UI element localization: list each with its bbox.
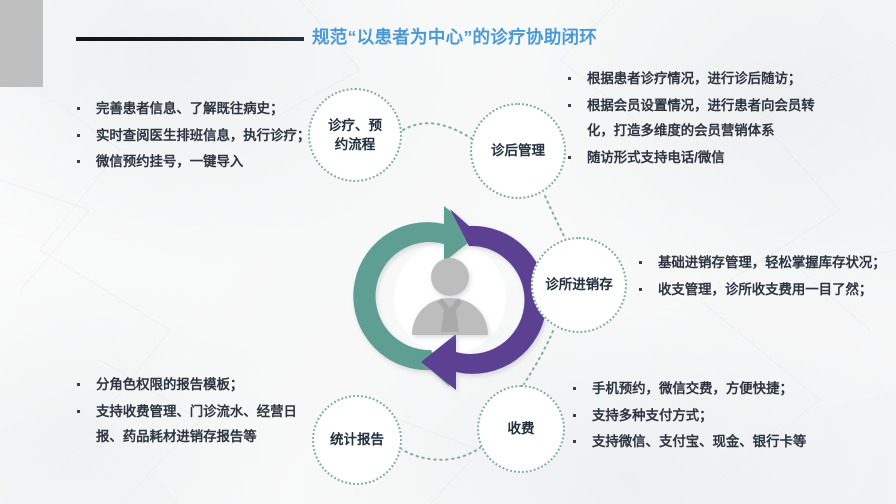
bullets-flow: 完善患者信息、了解既往病史；实时查阅医生排班信息，执行诊疗；微信预约挂号，一键导… [74, 96, 330, 176]
slide-canvas: 规范“以患者为中心”的诊疗协助闭环 [0, 0, 896, 504]
page-title: 规范“以患者为中心”的诊疗协助闭环 [312, 24, 597, 49]
node-label-inventory: 诊所进销存 [545, 275, 613, 294]
bullet-item: 支持微信、支付宝、现金、银行卡等 [570, 429, 820, 455]
bullets-report: 分角色权限的报告模板；支持收费管理、门诊流水、经营日报、药品耗材进销存报告等 [74, 372, 322, 451]
bullet-item: 分角色权限的报告模板； [74, 372, 322, 398]
bullet-list-inventory: 基础进销存管理，轻松掌握库存状况；收支管理，诊所收支费用一目了然； [636, 250, 886, 302]
bullets-after-care: 根据患者诊疗情况，进行诊后随访；根据会员设置情况，进行患者向会员转化，打造多维度… [565, 66, 817, 172]
bullet-item: 收支管理，诊所收支费用一目了然； [636, 277, 886, 303]
node-circle-billing[interactable]: 收费 [477, 385, 565, 473]
node-label-billing: 收费 [508, 419, 535, 438]
title-rule [76, 37, 304, 41]
bullet-item: 基础进销存管理，轻松掌握库存状况； [636, 250, 886, 276]
node-circle-report[interactable]: 统计报告 [312, 395, 402, 485]
node-circle-inventory[interactable]: 诊所进销存 [531, 237, 627, 333]
node-label-after-care: 诊后管理 [491, 141, 545, 160]
bullet-list-billing: 手机预约，微信交费，方便快捷；支持多种支付方式；支持微信、支付宝、现金、银行卡等 [570, 376, 820, 455]
connector-fee-to-report [398, 447, 481, 460]
bullet-item: 完善患者信息、了解既往病史； [74, 96, 330, 122]
node-circle-after-care[interactable]: 诊后管理 [470, 103, 566, 199]
node-label-flow-line2: 约流程 [335, 137, 376, 152]
bullets-inventory: 基础进销存管理，轻松掌握库存状况；收支管理，诊所收支费用一目了然； [636, 250, 886, 303]
node-circle-flow[interactable]: 诊疗、预 约流程 [308, 88, 402, 182]
bullet-item: 根据患者诊疗情况，进行诊后随访； [565, 66, 817, 92]
corner-accent-block [0, 0, 43, 87]
bullet-item: 微信预约挂号，一键导入 [74, 149, 330, 175]
bullet-item: 随访形式支持电话/微信 [565, 145, 817, 171]
node-label-flow: 诊疗、预 约流程 [328, 116, 382, 154]
connector-flow-to-after [403, 123, 474, 140]
node-label-report: 统计报告 [330, 430, 384, 449]
cycle-arrows-graphic [338, 198, 562, 398]
bullet-item: 支持收费管理、门诊流水、经营日报、药品耗材进销存报告等 [74, 399, 322, 450]
bullet-item: 根据会员设置情况，进行患者向会员转化，打造多维度的会员营销体系 [565, 93, 817, 144]
bullet-item: 手机预约，微信交费，方便快捷； [570, 376, 820, 402]
bullet-list-report: 分角色权限的报告模板；支持收费管理、门诊流水、经营日报、药品耗材进销存报告等 [74, 372, 322, 450]
bullet-item: 实时查阅医生排班信息，执行诊疗； [74, 123, 330, 149]
bullet-list-flow: 完善患者信息、了解既往病史；实时查阅医生排班信息，执行诊疗；微信预约挂号，一键导… [74, 96, 330, 175]
bullet-item: 支持多种支付方式； [570, 403, 820, 429]
node-label-flow-line1: 诊疗、预 [328, 118, 382, 133]
bullets-billing: 手机预约，微信交费，方便快捷；支持多种支付方式；支持微信、支付宝、现金、银行卡等 [570, 376, 820, 456]
bullet-list-after-care: 根据患者诊疗情况，进行诊后随访；根据会员设置情况，进行患者向会员转化，打造多维度… [565, 66, 817, 171]
